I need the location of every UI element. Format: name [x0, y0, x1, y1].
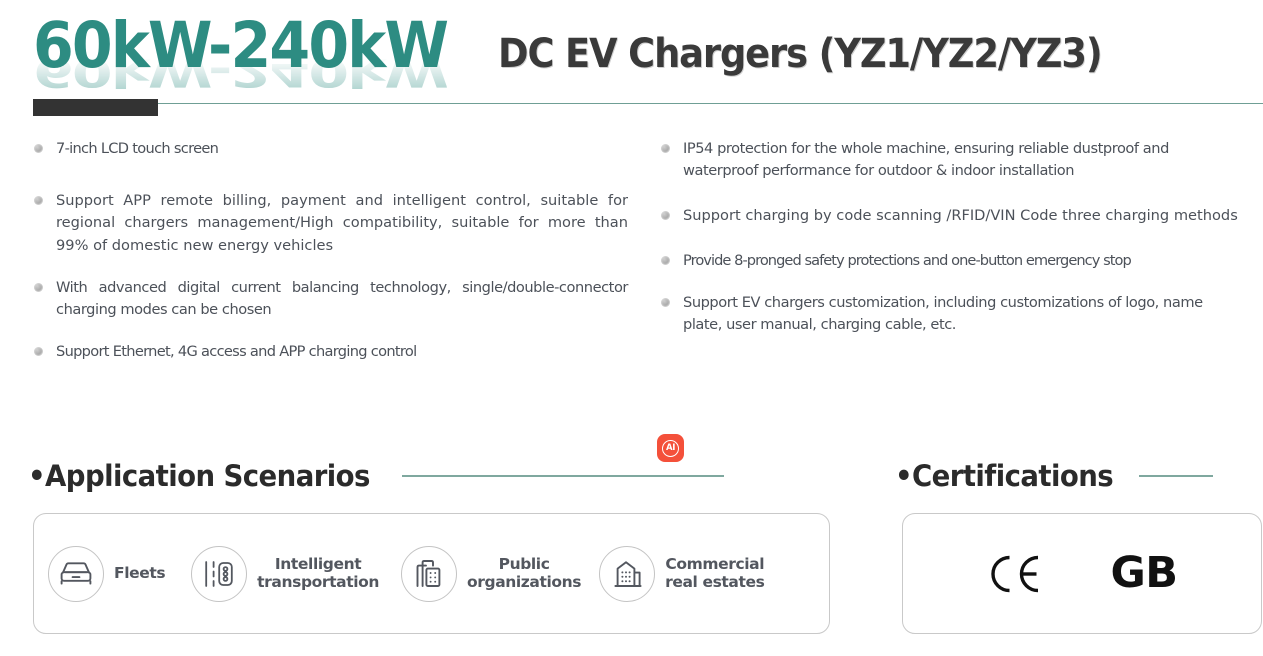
bullet-dot-icon [661, 256, 670, 265]
list-item: Support charging by code scanning /RFID/… [655, 205, 1245, 227]
product-spec-page: 60kW-240kW 60kW-240kW DC EV Chargers (YZ… [0, 0, 1263, 656]
list-item[interactable]: Intelligent transportation [191, 546, 379, 602]
feature-text: Provide 8-pronged safety protections and… [683, 250, 1245, 272]
list-item: Provide 8-pronged safety protections and… [655, 250, 1245, 272]
certification-list: CE GB [903, 514, 1261, 633]
list-item[interactable]: Fleets [48, 546, 165, 602]
feature-text: With advanced digital current balancing … [56, 277, 628, 321]
title-product-name: DC EV Chargers (YZ1/YZ2/YZ3) [498, 34, 1102, 74]
list-item: IP54 protection for the whole machine, e… [655, 138, 1245, 182]
feature-text: Support Ethernet, 4G access and APP char… [56, 341, 628, 363]
bullet-dot-icon [34, 196, 43, 205]
scenario-label: Public organizations [467, 556, 581, 591]
bullet-dot-icon [34, 347, 43, 356]
feature-text: Support APP remote billing, payment and … [56, 190, 628, 257]
scenario-label-line2: real estates [665, 573, 764, 591]
scenario-label: Fleets [114, 565, 165, 582]
list-item: With advanced digital current balancing … [28, 277, 628, 321]
scenario-list: Fleets Intelligent transportat [34, 514, 829, 633]
scenario-label-line2: organizations [467, 573, 581, 591]
ai-badge-label: AI [662, 440, 679, 457]
scenario-label-line2: transportation [257, 573, 379, 591]
bullet-dot-icon [34, 144, 43, 153]
feature-column-left: 7-inch LCD touch screen Support APP remo… [28, 138, 628, 363]
feature-text: Support charging by code scanning /RFID/… [683, 205, 1245, 227]
list-item: Support APP remote billing, payment and … [28, 190, 628, 257]
bullet-dot-icon [661, 144, 670, 153]
heading-divider [1139, 475, 1213, 477]
bullet-dot-icon [661, 211, 670, 220]
public-building-icon [401, 546, 457, 602]
page-header: 60kW-240kW 60kW-240kW DC EV Chargers (YZ… [0, 0, 1263, 118]
list-item[interactable]: Public organizations [401, 546, 581, 602]
list-item: Support Ethernet, 4G access and APP char… [28, 341, 628, 363]
feature-lists: 7-inch LCD touch screen Support APP remo… [0, 138, 1263, 423]
certifications-card: CE GB [902, 513, 1262, 634]
scenario-label: Commercial real estates [665, 556, 764, 591]
list-item: Support EV chargers customization, inclu… [655, 292, 1245, 336]
feature-text: 7-inch LCD touch screen [56, 138, 628, 160]
header-accent-tab [33, 99, 158, 116]
title-power-rating: 60kW-240kW [33, 14, 447, 77]
bullet-dot-icon [34, 283, 43, 292]
bullet-dot-icon [661, 298, 670, 307]
list-item[interactable]: Commercial real estates [599, 546, 764, 602]
application-scenarios-heading: •Application Scenarios [28, 459, 724, 493]
section-title: •Application Scenarios [28, 459, 370, 493]
heading-divider [402, 475, 724, 477]
ai-badge-icon[interactable]: AI [657, 434, 684, 462]
application-scenarios-card: Fleets Intelligent transportat [33, 513, 830, 634]
scenario-label-line1: Commercial [665, 555, 764, 573]
scenario-label: Intelligent transportation [257, 556, 379, 591]
scenario-label-line1: Intelligent [275, 555, 361, 573]
feature-text: IP54 protection for the whole machine, e… [683, 138, 1245, 182]
gb-mark-icon: GB [1110, 552, 1177, 595]
scenario-label-line1: Public [499, 555, 550, 573]
traffic-light-road-icon [191, 546, 247, 602]
feature-text: Support EV chargers customization, inclu… [683, 292, 1245, 336]
list-item: 7-inch LCD touch screen [28, 138, 628, 160]
car-front-icon [48, 546, 104, 602]
header-divider [33, 103, 1263, 104]
ce-mark-icon: CE [986, 551, 1042, 597]
feature-column-right: IP54 protection for the whole machine, e… [655, 138, 1245, 336]
certifications-heading: •Certifications [895, 459, 1213, 493]
commercial-building-icon [599, 546, 655, 602]
page-title: 60kW-240kW DC EV Chargers (YZ1/YZ2/YZ3) [33, 14, 1154, 92]
section-title: •Certifications [895, 459, 1113, 493]
